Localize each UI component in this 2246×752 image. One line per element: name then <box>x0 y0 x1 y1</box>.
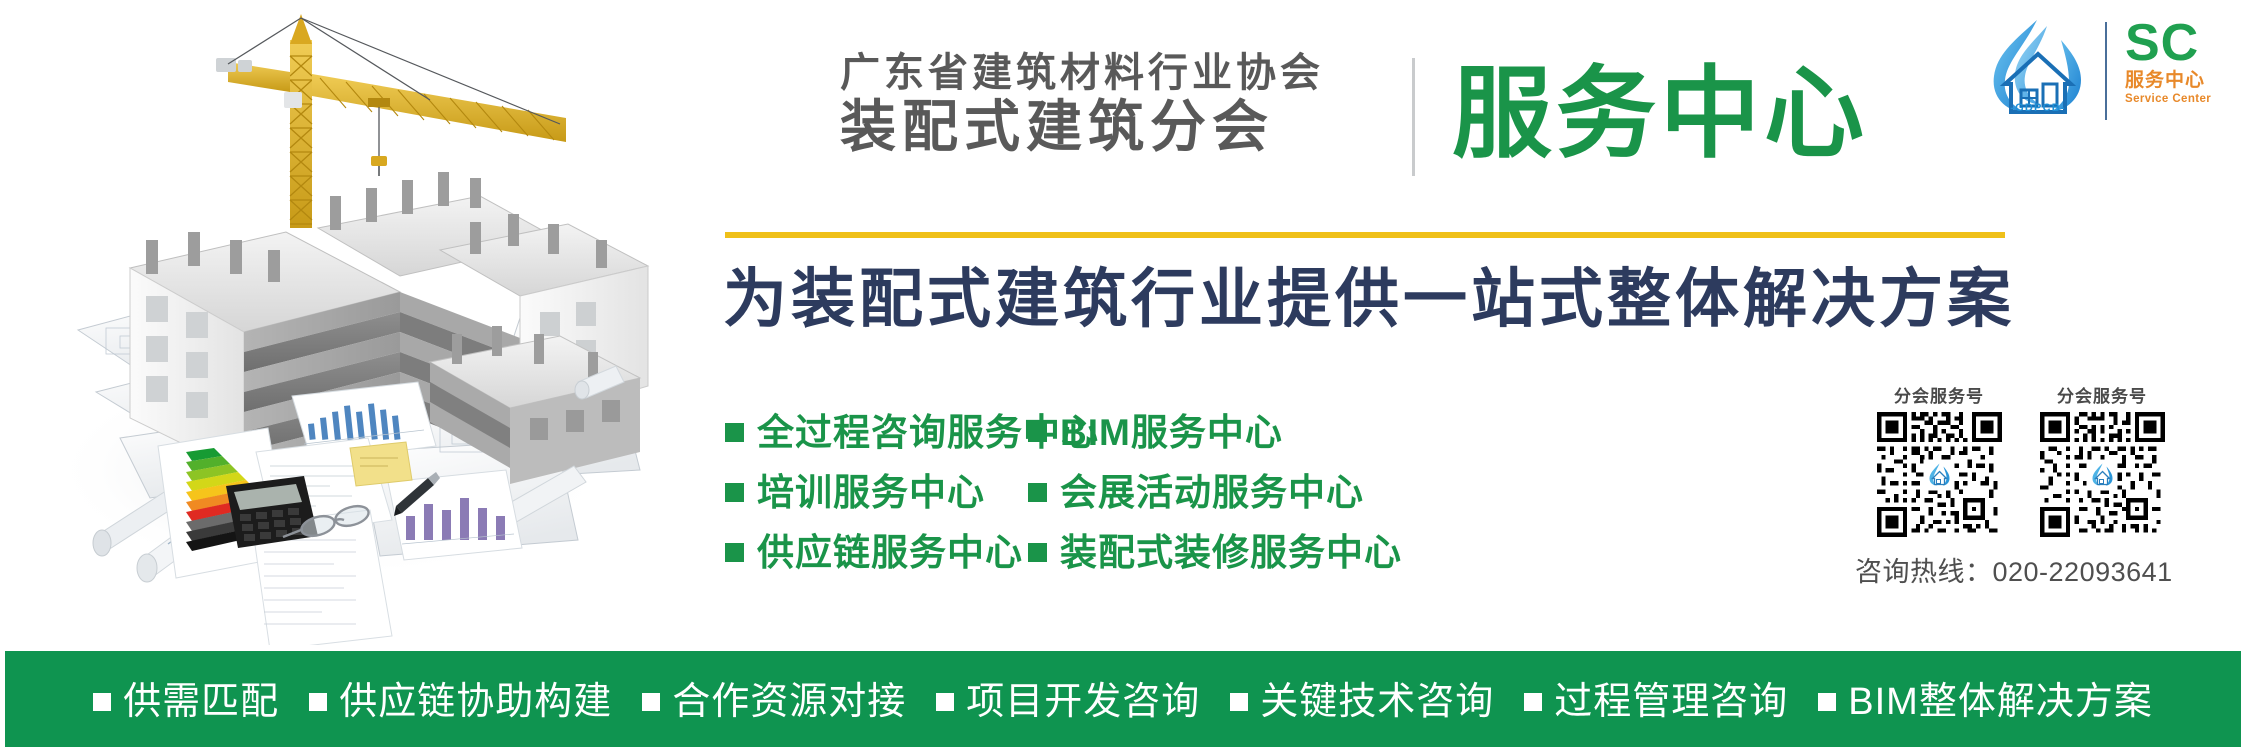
qr-code-block: 分会服务号 <box>2023 382 2181 537</box>
sticky-note <box>350 442 412 486</box>
logo-sc-group: SC 服务中心 Service Center <box>2125 20 2215 105</box>
service-list-item[interactable]: 装配式装修服务中心 <box>1028 522 1402 582</box>
qr-center-logo <box>1924 459 1955 490</box>
square-bullet-icon <box>309 693 327 711</box>
brand-logo: -GDPCB- SC 服务中心 Service Center <box>1985 14 2210 126</box>
bottom-bar-item-label: 供需匹配 <box>123 683 279 721</box>
service-list-item-label: 供应链服务中心 <box>757 534 1023 571</box>
square-bullet-icon <box>1028 423 1047 442</box>
square-bullet-icon <box>1028 483 1047 502</box>
bottom-bar-item[interactable]: 关键技术咨询 <box>1230 683 1494 721</box>
bottom-bar-item[interactable]: BIM整体解决方案 <box>1818 683 2153 721</box>
main-headline: 为装配式建筑行业提供一站式整体解决方案 <box>723 258 2015 341</box>
bottom-bar-item-label: 过程管理咨询 <box>1554 683 1788 721</box>
qr-center-logo <box>2087 459 2118 490</box>
bottom-bar-item[interactable]: 供需匹配 <box>93 683 279 721</box>
qr-code-panel: 分会服务号 <box>1855 382 2225 582</box>
service-list-item-label: 会展活动服务中心 <box>1060 474 1364 511</box>
hero-illustration <box>0 0 670 645</box>
bottom-bar-item[interactable]: 项目开发咨询 <box>936 683 1200 721</box>
association-title-block: 广东省建筑材料行业协会 装配式建筑分会 <box>840 52 1480 182</box>
construction-scene-graphic <box>0 0 670 645</box>
qr-code-caption: 分会服务号 <box>1860 382 2018 407</box>
title-vertical-divider <box>1412 58 1415 176</box>
logo-vertical-divider <box>2105 22 2107 120</box>
bottom-bar-item[interactable]: 合作资源对接 <box>642 683 906 721</box>
square-bullet-icon <box>725 543 744 562</box>
qr-code-image[interactable] <box>2040 412 2165 537</box>
qr-code-block: 分会服务号 <box>1860 382 2018 537</box>
bottom-bar-item-label: BIM整体解决方案 <box>1848 683 2153 721</box>
bottom-bar-item[interactable]: 供应链协助构建 <box>309 683 612 721</box>
chapter-name-line2: 装配式建筑分会 <box>840 96 1480 159</box>
service-list-item-label: 培训服务中心 <box>757 474 985 511</box>
qr-code-image[interactable] <box>1877 412 2002 537</box>
service-list-right-column: BIM服务中心 会展活动服务中心 装配式装修服务中心 <box>1028 402 1402 582</box>
logo-gdpcb-caption: -GDPCB- <box>1985 102 2091 114</box>
square-bullet-icon <box>1524 693 1542 711</box>
square-bullet-icon <box>93 693 111 711</box>
promotional-banner: 广东省建筑材料行业协会 装配式建筑分会 服务中心 <box>0 0 2246 752</box>
hotline-text: 咨询热线：020-22093641 <box>1855 550 2225 589</box>
bottom-bar-items: 供需匹配 供应链协助构建 合作资源对接 项目开发咨询 关键技术咨询 过程管理咨询 <box>93 677 2153 721</box>
bottom-bar-item-label: 供应链协助构建 <box>339 683 612 721</box>
service-list-item[interactable]: 会展活动服务中心 <box>1028 462 1402 522</box>
bottom-service-bar: 供需匹配 供应链协助构建 合作资源对接 项目开发咨询 关键技术咨询 过程管理咨询 <box>5 651 2241 747</box>
calculator <box>226 476 318 548</box>
bottom-bar-item-label: 关键技术咨询 <box>1260 683 1494 721</box>
gdpcb-flame-house-icon-small <box>1926 462 1952 488</box>
bottom-bar-item-label: 合作资源对接 <box>672 683 906 721</box>
tower-crane <box>216 14 566 228</box>
bottom-bar-item[interactable]: 过程管理咨询 <box>1524 683 1788 721</box>
square-bullet-icon <box>642 693 660 711</box>
gdpcb-flame-house-icon-small <box>2089 462 2115 488</box>
service-center-heading: 服务中心 <box>1452 54 1868 174</box>
logo-sc-initials: SC <box>2125 20 2215 68</box>
square-bullet-icon <box>725 423 744 442</box>
service-center-list: 全过程咨询服务中心 培训服务中心 供应链服务中心 BIM服务中心 会展活动服务中… <box>725 402 1785 582</box>
square-bullet-icon <box>1230 693 1248 711</box>
association-name-line1: 广东省建筑材料行业协会 <box>840 52 1480 94</box>
service-list-item-label: BIM服务中心 <box>1060 414 1283 451</box>
logo-sc-english: Service Center <box>2125 93 2215 105</box>
service-list-item-label: 装配式装修服务中心 <box>1060 534 1402 571</box>
bar-chart-print-purple <box>388 470 522 560</box>
square-bullet-icon <box>936 693 954 711</box>
gold-divider-rule <box>725 232 2005 238</box>
square-bullet-icon <box>1818 693 1836 711</box>
bottom-bar-item-label: 项目开发咨询 <box>966 683 1200 721</box>
qr-code-caption: 分会服务号 <box>2023 382 2181 407</box>
square-bullet-icon <box>725 483 744 502</box>
logo-sc-chinese: 服务中心 <box>2125 71 2215 92</box>
square-bullet-icon <box>1028 543 1047 562</box>
service-list-item[interactable]: BIM服务中心 <box>1028 402 1402 462</box>
